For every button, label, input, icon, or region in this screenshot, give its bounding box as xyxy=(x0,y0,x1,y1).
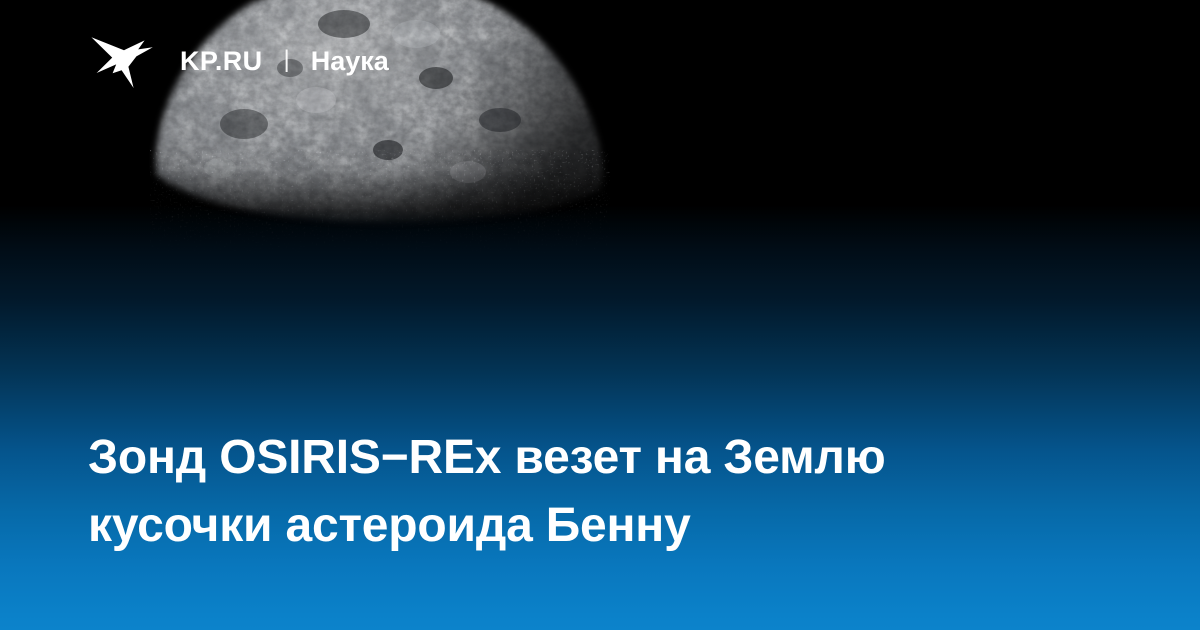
article-headline: Зонд OSIRIS−REx везет на Землю кусочки а… xyxy=(88,424,1098,560)
brand-name[interactable]: KP.RU xyxy=(180,46,263,77)
swallow-bird-logo-icon[interactable] xyxy=(88,33,156,89)
brand-bar: KP.RU | Наука xyxy=(88,33,389,89)
brand-section-label[interactable]: Наука xyxy=(311,46,389,77)
social-share-card: KP.RU | Наука Зонд OSIRIS−REx везет на З… xyxy=(0,0,1200,630)
brand-separator: | xyxy=(284,48,290,72)
